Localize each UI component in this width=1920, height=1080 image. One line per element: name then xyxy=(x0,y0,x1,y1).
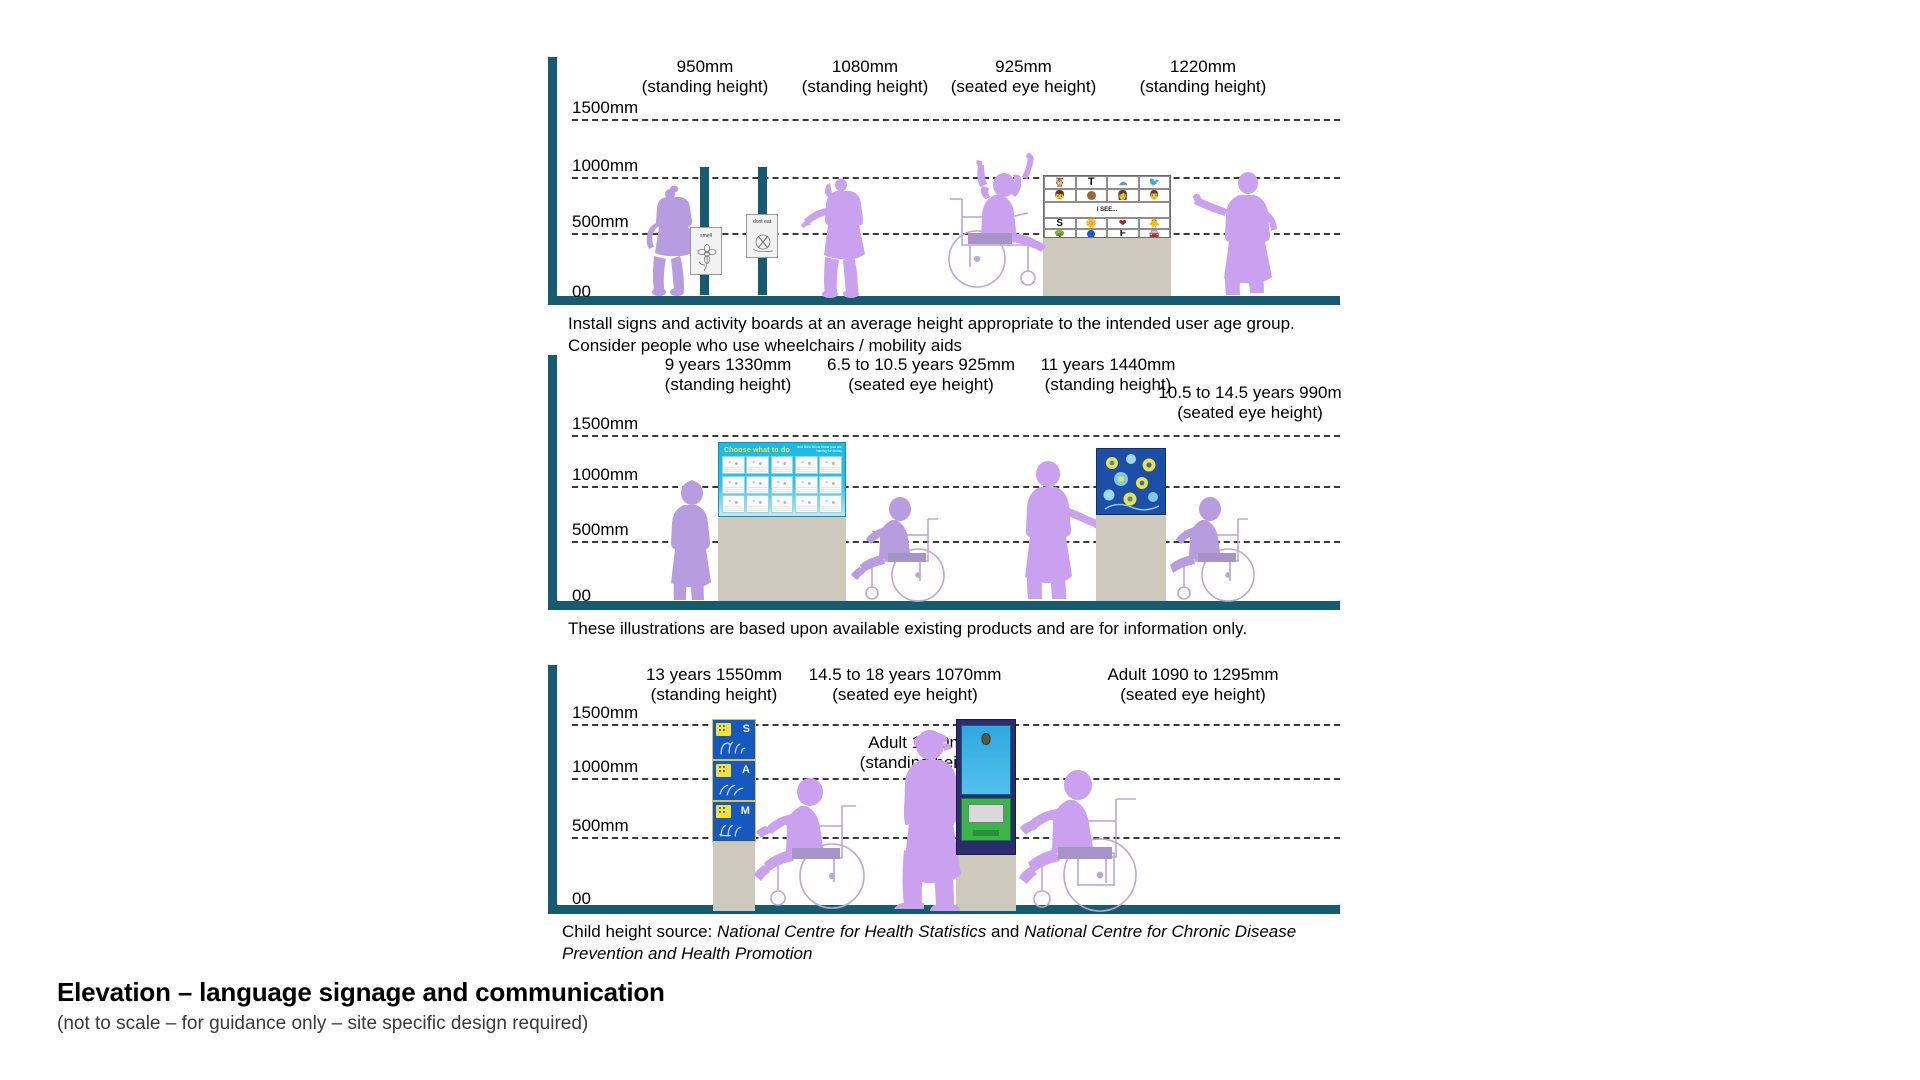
panel-2-caption: These illustrations are based upon avail… xyxy=(568,618,1328,640)
poster-cell[interactable] xyxy=(746,456,769,474)
comm-cell-i-see[interactable]: I SEE... xyxy=(1044,202,1170,218)
poster-cell[interactable] xyxy=(771,495,794,513)
activity-poster-plinth xyxy=(718,515,846,601)
callout-925mm-note: (seated eye height) xyxy=(926,77,1121,97)
panel-1-caption-line-1: Install signs and activity boards at an … xyxy=(568,313,1328,335)
braille-dots-plate xyxy=(716,805,730,818)
panel-2-vertical-axis xyxy=(548,355,557,610)
art-poster[interactable] xyxy=(1096,448,1166,515)
axis-label-00: 00 xyxy=(572,282,591,303)
axis-label-1500: 1500mm xyxy=(572,98,638,119)
poster-cell[interactable] xyxy=(819,456,842,474)
page-title: Elevation – language signage and communi… xyxy=(57,977,817,1008)
poster-cell[interactable] xyxy=(722,495,745,513)
braille-dots-plate xyxy=(716,723,730,736)
callout-10-5-to-14-5-years-note: (seated eye height) xyxy=(1124,403,1376,423)
art-poster-plinth xyxy=(1096,515,1166,601)
callout-1220mm: 1220mm (standing height) xyxy=(1108,57,1298,96)
activity-poster-grid xyxy=(722,456,842,513)
panel-3-caption-source-1: National Centre for Health Statistics xyxy=(717,922,986,941)
sign-card-smell-label: smell xyxy=(691,233,721,239)
braille-tile-a-letter: A xyxy=(742,764,750,776)
comm-cell-tree[interactable]: 🌳 xyxy=(1044,229,1076,238)
poster-cell[interactable] xyxy=(795,456,818,474)
poster-cell[interactable] xyxy=(771,476,794,494)
braille-sign-stack[interactable]: S A M xyxy=(712,719,756,842)
comm-cell-girl[interactable]: 👩 xyxy=(1107,189,1139,202)
panel-2-caption-line-1: These illustrations are based upon avail… xyxy=(568,618,1328,640)
poster-cell[interactable] xyxy=(722,456,745,474)
figure-child-standing-pointing xyxy=(796,175,874,297)
poster-cell[interactable] xyxy=(746,495,769,513)
comm-cell-S[interactable]: S xyxy=(1044,218,1076,229)
figure-wheelchair-teen-10-5-to-14-5 xyxy=(1162,483,1268,603)
braille-tile-s-letter: S xyxy=(743,723,750,735)
kiosk-dispenser-bar xyxy=(973,830,1000,836)
poster-cell[interactable] xyxy=(819,476,842,494)
braille-tile-m-letter: M xyxy=(741,805,750,817)
axis-3-label-00: 00 xyxy=(572,889,591,910)
callout-1220mm-value: 1220mm xyxy=(1108,57,1298,77)
kiosk-dispenser-panel[interactable] xyxy=(961,798,1011,841)
activity-poster-choose-what-to-do[interactable]: Choose what to do and then let us know y… xyxy=(718,442,846,517)
gridline-1500 xyxy=(572,119,1340,121)
callout-925mm-value: 925mm xyxy=(926,57,1121,77)
poster-cell[interactable] xyxy=(746,476,769,494)
callout-14-5-to-18-years: 14.5 to 18 years 1070mm (seated eye heig… xyxy=(780,665,1030,704)
axis-3-label-500: 500mm xyxy=(572,816,629,837)
panel-signs-and-activity-boards: 1500mm 1000mm 500mm 00 950mm (standing h… xyxy=(548,57,1340,305)
axis-3-label-1000: 1000mm xyxy=(572,757,638,778)
panel-3-caption: Child height source: National Centre for… xyxy=(562,921,1322,965)
comm-cell-boy[interactable]: 👨 xyxy=(1139,189,1171,202)
activity-poster-subtitle: and then let us know you are having fun … xyxy=(797,445,842,453)
figure-child-9-years xyxy=(662,480,720,602)
hand-sign-icon xyxy=(717,820,747,839)
comm-cell-bird-2[interactable]: 🐦 xyxy=(1139,176,1171,189)
sign-card-smell[interactable]: smell xyxy=(690,227,722,275)
figure-wheelchair-teen-14-5-to-18 xyxy=(754,764,882,912)
figure-child-11-years xyxy=(1018,459,1104,601)
callout-adult-seated-value: Adult 1090 to 1295mm xyxy=(1048,665,1338,685)
panel-signage-kiosk: 1500mm 1000mm 500mm 00 13 years 1550mm (… xyxy=(548,665,1340,914)
axis-2-label-500: 500mm xyxy=(572,520,629,541)
panel-3-vertical-axis xyxy=(548,665,557,914)
sign-card-dont-eat-label: dont eat xyxy=(747,219,777,225)
panel-3-caption-prefix: Child height source: xyxy=(562,922,717,941)
figure-wheelchair-child-6-5-to-10-5 xyxy=(848,483,956,603)
poster-cell[interactable] xyxy=(795,476,818,494)
kiosk-dispenser-slot[interactable] xyxy=(968,804,1004,823)
comm-cell-T[interactable]: T xyxy=(1076,176,1108,189)
axis-label-1000: 1000mm xyxy=(572,156,638,177)
callout-11-years-value: 11 years 1440mm xyxy=(1008,355,1208,375)
braille-tile-a[interactable]: A xyxy=(712,760,756,801)
gridline-2-1500 xyxy=(572,435,1340,437)
callout-10-5-to-14-5-years-value: 10.5 to 14.5 years 990m xyxy=(1124,383,1376,403)
callout-1220mm-note: (standing height) xyxy=(1108,77,1298,97)
axis-3-label-1500: 1500mm xyxy=(572,703,638,724)
comm-cell-clouds[interactable]: ☁ xyxy=(1107,176,1139,189)
page-subtitle: (not to scale – for guidance only – site… xyxy=(57,1013,817,1035)
callout-10-5-to-14-5-years: 10.5 to 14.5 years 990m (seated eye heig… xyxy=(1124,383,1376,422)
panel-1-vertical-axis xyxy=(548,57,557,305)
braille-sign-plinth xyxy=(713,842,755,911)
panel-1-caption: Install signs and activity boards at an … xyxy=(568,313,1328,357)
panel-1-caption-line-2: Consider people who use wheelchairs / mo… xyxy=(568,335,1328,357)
communication-board[interactable]: 🦉 T ☁ 🐦 👦 👩 👨 I SEE... S 🌼 ❤ 🐥 🌳 F 🚘 xyxy=(1043,175,1171,238)
callout-925mm: 925mm (seated eye height) xyxy=(926,57,1121,96)
callout-adult-seated: Adult 1090 to 1295mm (seated eye height) xyxy=(1048,665,1338,704)
axis-2-label-1500: 1500mm xyxy=(572,414,638,435)
comm-cell-flowers[interactable]: 🌼 xyxy=(1076,218,1108,229)
kiosk-camera-icon xyxy=(982,733,991,745)
panel-1-ground-line xyxy=(548,296,1340,305)
figure-child-standing-left xyxy=(636,186,698,296)
figure-adult-wheelchair-user xyxy=(1022,757,1172,917)
braille-tile-m[interactable]: M xyxy=(712,801,756,842)
callout-adult-seated-note: (seated eye height) xyxy=(1048,685,1338,705)
axis-2-label-1000: 1000mm xyxy=(572,465,638,486)
poster-cell[interactable] xyxy=(819,495,842,513)
poster-cell[interactable] xyxy=(722,476,745,494)
axis-2-label-00: 00 xyxy=(572,586,591,607)
braille-tile-s[interactable]: S xyxy=(712,719,756,760)
panel-activity-posters: 1500mm 1000mm 500mm 00 9 years 1330mm (s… xyxy=(548,355,1340,610)
title-block: Elevation – language signage and communi… xyxy=(57,977,817,1035)
comm-cell-F[interactable]: F xyxy=(1107,229,1139,238)
axis-label-500: 500mm xyxy=(572,212,629,233)
figure-adult-standing-right xyxy=(1193,169,1285,297)
poster-cell[interactable] xyxy=(795,495,818,513)
comm-cell-brown[interactable] xyxy=(1076,189,1108,202)
figure-wheelchair-user-arms-up xyxy=(940,153,1058,296)
comm-cell-baby[interactable]: 👦 xyxy=(1044,189,1076,202)
comm-cell-blue[interactable] xyxy=(1076,229,1108,238)
comm-board-plinth xyxy=(1043,237,1171,296)
panel-3-caption-joiner: and xyxy=(986,922,1024,941)
interactive-kiosk[interactable] xyxy=(956,719,1016,855)
comm-cell-angel-bee[interactable]: ❤ xyxy=(1107,218,1139,229)
sign-card-dont-eat[interactable]: dont eat xyxy=(746,214,778,258)
hand-sign-icon xyxy=(717,738,747,757)
callout-14-5-to-18-years-value: 14.5 to 18 years 1070mm xyxy=(780,665,1030,685)
comm-cell-bird-3[interactable]: 🐥 xyxy=(1139,218,1171,229)
braille-dots-plate xyxy=(716,764,730,777)
comm-cell-bird[interactable]: 🦉 xyxy=(1044,176,1076,189)
callout-14-5-to-18-years-note: (seated eye height) xyxy=(780,685,1030,705)
hand-sign-icon xyxy=(717,779,747,798)
poster-cell[interactable] xyxy=(771,456,794,474)
comm-cell-car[interactable]: 🚘 xyxy=(1139,229,1171,238)
